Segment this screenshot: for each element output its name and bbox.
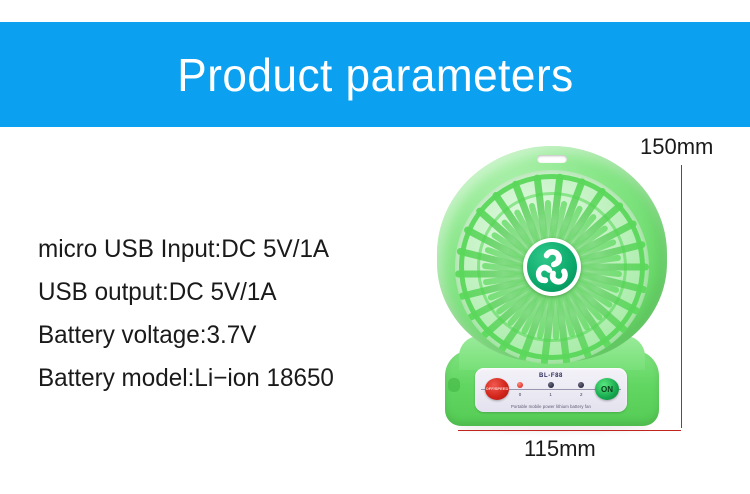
- specifications-list: micro USB Input:DC 5V/1A USB output:DC 5…: [38, 228, 438, 400]
- power-speed-button-label: OFF/SPEED: [486, 387, 509, 391]
- spec-line-usb-output: USB output:DC 5V/1A: [38, 271, 426, 314]
- dimension-width-line: [458, 430, 681, 431]
- power-speed-button[interactable]: OFF/SPEED: [485, 378, 509, 400]
- spec-line-battery-voltage: Battery voltage:3.7V: [38, 314, 426, 357]
- product-parameters-page: Product parameters micro USB Input:DC 5V…: [0, 0, 750, 494]
- on-button-label: ON: [601, 385, 613, 394]
- product-image-mini-fan: BL-F88 OFF/SPEED 0 1 2 3 ON Portable mob…: [437, 146, 667, 426]
- header-banner: Product parameters: [0, 22, 750, 127]
- fan-hub: [523, 238, 581, 296]
- fan-head: [437, 146, 667, 362]
- dimension-height-line: [681, 165, 682, 428]
- led-indicator: [548, 382, 554, 388]
- fan-hub-inner: [527, 242, 577, 292]
- spec-line-battery-model: Battery model:Li−ion 18650: [38, 357, 426, 400]
- panel-tagline-label: Portable mobile power lithium battery fa…: [475, 404, 627, 409]
- fan-hanging-slot: [537, 155, 567, 163]
- dimension-width-label: 115mm: [524, 436, 596, 462]
- led-indicator: [578, 382, 584, 388]
- on-button[interactable]: ON: [595, 378, 619, 400]
- spec-line-usb-input: micro USB Input:DC 5V/1A: [38, 228, 426, 271]
- led-number: 1: [548, 392, 554, 397]
- page-title: Product parameters: [177, 52, 573, 98]
- led-number: 0: [517, 392, 523, 397]
- fan-control-panel: BL-F88 OFF/SPEED 0 1 2 3 ON Portable mob…: [475, 368, 627, 412]
- led-number: 2: [578, 392, 584, 397]
- dimension-height-label: 150mm: [640, 134, 713, 160]
- led-indicator: [517, 382, 523, 388]
- fan-side-port-icon: [448, 378, 460, 392]
- fan-grille: [455, 170, 649, 364]
- brand-swirl-logo-icon: [527, 242, 577, 292]
